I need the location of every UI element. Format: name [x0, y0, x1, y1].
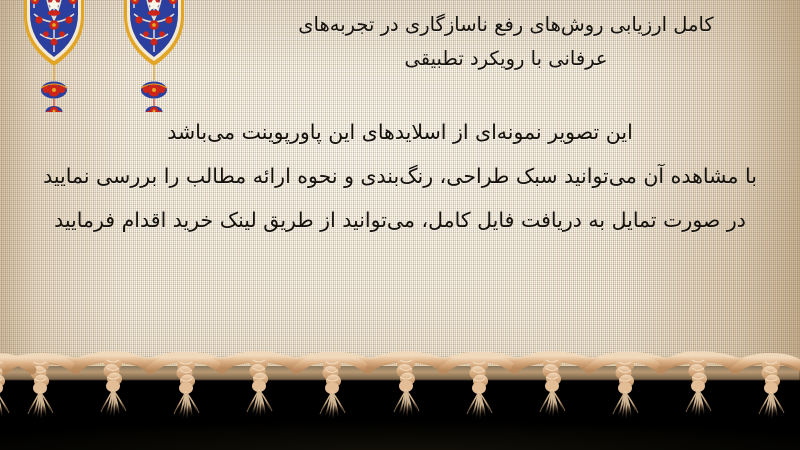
slide-body: این تصویر نمونه‌ای از اسلایدهای این پاور…: [0, 110, 800, 242]
slide-canvas: کامل ارزیابی روش‌های رفع ناسازگاری در تج…: [0, 0, 800, 450]
title-line-2: عرفانی با رویکرد تطبیقی: [228, 42, 784, 76]
body-line-1: این تصویر نمونه‌ای از اسلایدهای این پاور…: [0, 110, 800, 154]
title-line-1: کامل ارزیابی روش‌های رفع ناسازگاری در تج…: [228, 8, 784, 42]
carpet-tassel-fringe-icon: [0, 344, 800, 450]
body-line-3: در صورت تمایل به دریافت فایل کامل، می‌تو…: [0, 198, 800, 242]
persian-illuminated-medallion-icon: [0, 0, 250, 112]
ornament-group: [0, 0, 250, 112]
slide-title: کامل ارزیابی روش‌های رفع ناسازگاری در تج…: [228, 8, 784, 76]
body-line-2: با مشاهده آن می‌توانید سبک طراحی، رنگ‌بن…: [0, 154, 800, 198]
